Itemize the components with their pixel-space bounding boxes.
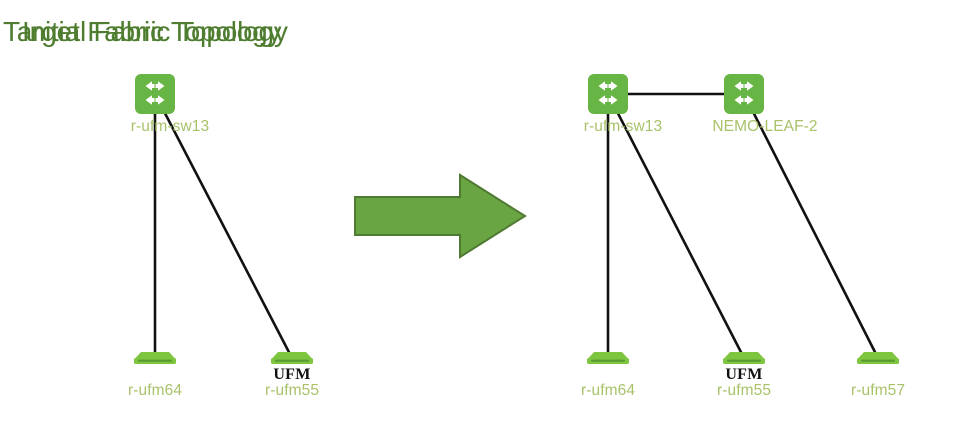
server-icon-ufm55[interactable]	[268, 350, 316, 366]
node-label-sw13: r-ufm-sw13	[584, 118, 663, 136]
node-label-sw13: r-ufm-sw13	[131, 118, 210, 136]
server-icon-ufm57[interactable]	[854, 350, 902, 366]
node-label-ufm55: r-ufm55	[265, 382, 319, 400]
switch-icon-sw13[interactable]	[588, 74, 628, 114]
node-label-ufm64: r-ufm64	[581, 382, 635, 400]
server-icon-ufm55[interactable]	[720, 350, 768, 366]
node-label-ufm57: r-ufm57	[851, 382, 905, 400]
node-label-ufm64: r-ufm64	[128, 382, 182, 400]
server-icon-ufm64[interactable]	[584, 350, 632, 366]
switch-icon-leaf2[interactable]	[724, 74, 764, 114]
transition-arrow-icon	[352, 172, 528, 260]
server-icon-ufm64[interactable]	[131, 350, 179, 366]
node-label-ufm55: r-ufm55	[717, 382, 771, 400]
switch-icon-sw13[interactable]	[135, 74, 175, 114]
node-label-leaf2: NEMO-LEAF-2	[712, 118, 817, 136]
